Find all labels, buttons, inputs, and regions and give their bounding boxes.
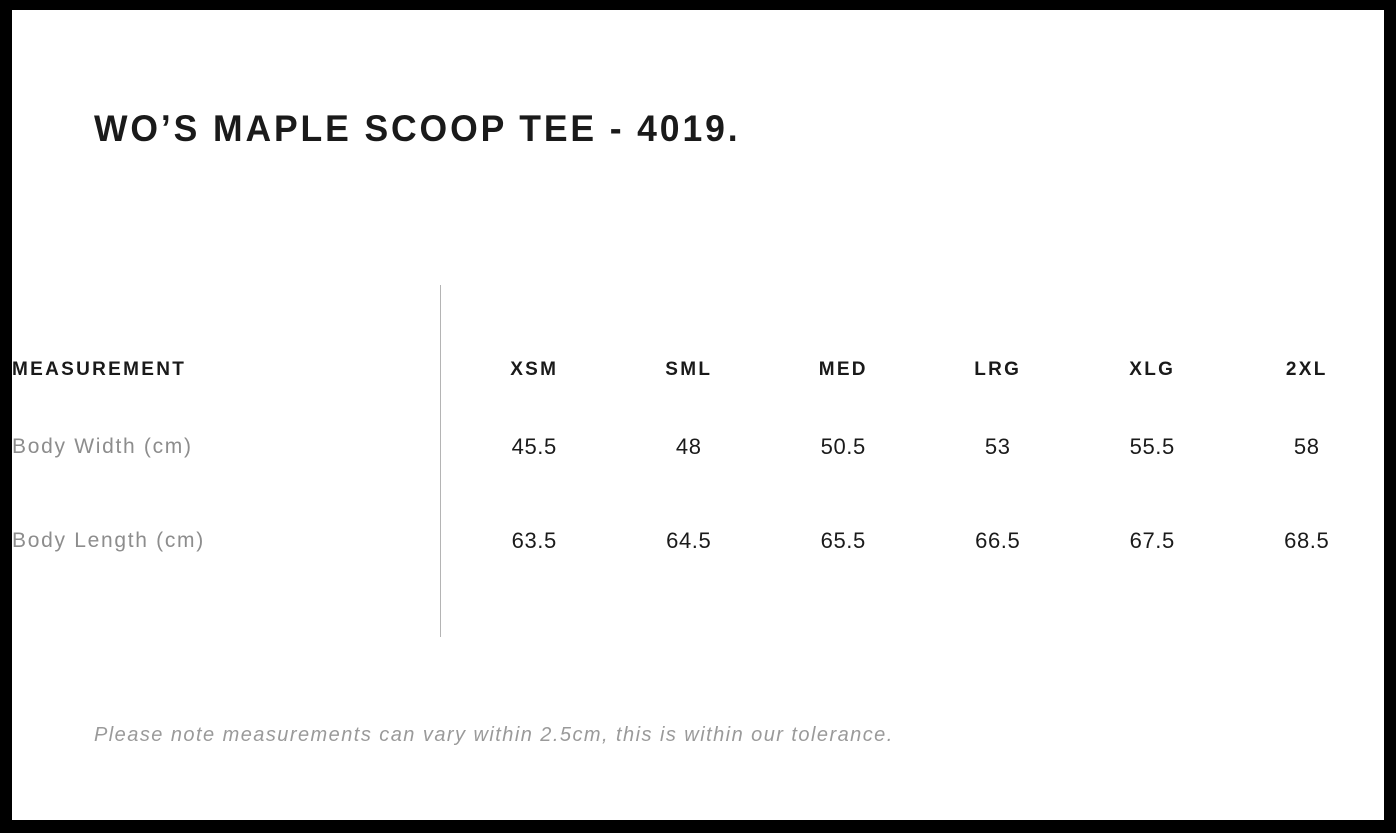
size-column-header-2xl: 2XL (1230, 340, 1385, 400)
table-row: Body Length (cm) 63.5 64.5 65.5 66.5 67.… (12, 494, 1384, 588)
row-label-body-width: Body Width (cm) (12, 400, 457, 494)
cell-body-width-med: 50.5 (766, 400, 921, 494)
size-column-header-xsm: XSM (457, 340, 612, 400)
size-table-container: MEASUREMENT XSM SML MED LRG XLG 2XL Body… (12, 10, 1384, 820)
cell-body-width-2xl: 58 (1230, 400, 1385, 494)
cell-body-width-sml: 48 (612, 400, 767, 494)
cell-body-length-sml: 64.5 (612, 494, 767, 588)
size-column-header-sml: SML (612, 340, 767, 400)
cell-body-length-xsm: 63.5 (457, 494, 612, 588)
table-row: Body Width (cm) 45.5 48 50.5 53 55.5 58 (12, 400, 1384, 494)
size-column-header-xlg: XLG (1075, 340, 1230, 400)
size-chart-page: WO’S MAPLE SCOOP TEE - 4019. MEASUREMENT (0, 0, 1396, 833)
size-chart-canvas: WO’S MAPLE SCOOP TEE - 4019. MEASUREMENT (12, 10, 1384, 820)
table-header-row: MEASUREMENT XSM SML MED LRG XLG 2XL (12, 340, 1384, 400)
cell-body-width-xlg: 55.5 (1075, 400, 1230, 494)
measurement-column-header: MEASUREMENT (12, 340, 457, 400)
tolerance-note: Please note measurements can vary within… (94, 724, 894, 747)
cell-body-width-lrg: 53 (921, 400, 1076, 494)
size-column-header-med: MED (766, 340, 921, 400)
cell-body-width-xsm: 45.5 (457, 400, 612, 494)
cell-body-length-lrg: 66.5 (921, 494, 1076, 588)
cell-body-length-2xl: 68.5 (1230, 494, 1385, 588)
cell-body-length-xlg: 67.5 (1075, 494, 1230, 588)
size-table: MEASUREMENT XSM SML MED LRG XLG 2XL Body… (12, 340, 1384, 588)
size-column-header-lrg: LRG (921, 340, 1076, 400)
row-label-body-length: Body Length (cm) (12, 494, 457, 588)
cell-body-length-med: 65.5 (766, 494, 921, 588)
